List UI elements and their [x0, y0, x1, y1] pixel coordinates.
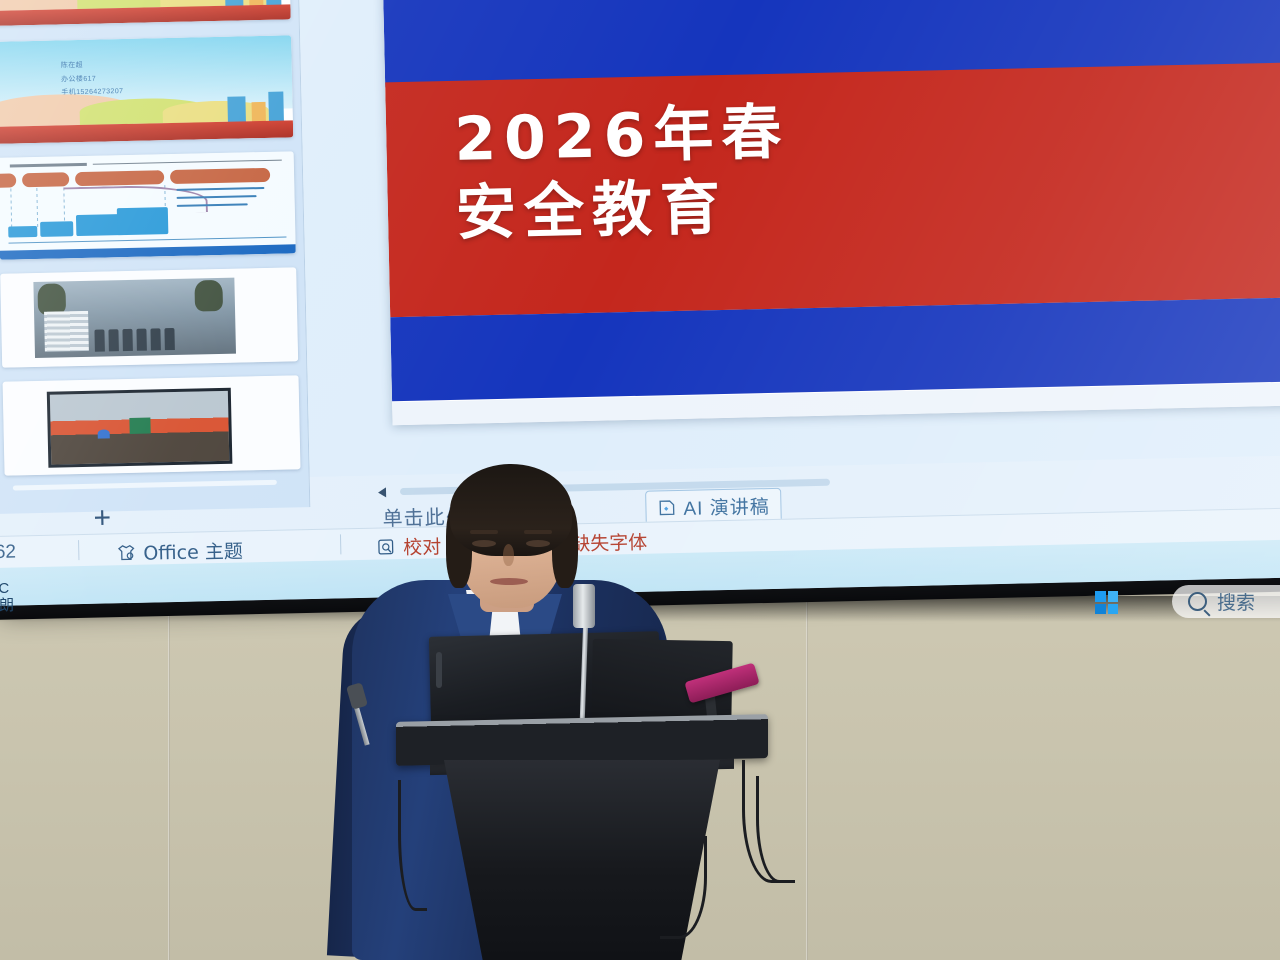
windows-start-icon[interactable] — [1095, 591, 1118, 614]
podium — [396, 718, 768, 960]
add-slide-button[interactable]: + — [93, 503, 111, 533]
microphone-head — [573, 584, 595, 628]
slide-counter[interactable]: / 62 — [0, 541, 16, 564]
podium-top — [396, 714, 768, 766]
weather-temperature: 1°C — [0, 580, 14, 597]
list-item[interactable] — [3, 375, 301, 475]
presenter-eye-left — [472, 540, 496, 547]
laptop-hinge — [436, 652, 442, 688]
search-icon — [1188, 592, 1207, 611]
slide-thumbnail-photo-gate — [0, 267, 298, 367]
presenter-brow-left — [470, 530, 498, 534]
slide-thumbnail-photo-site — [3, 375, 301, 475]
theme-label: Office 主题 — [143, 537, 243, 566]
search-placeholder: 搜索 — [1217, 588, 1255, 615]
thumbnail-pane-scrollbar[interactable] — [13, 480, 277, 491]
slide-thumbnail-pane[interactable]: 陈在超 办公楼617 手机15264273207 谢谢聆听 — [0, 0, 309, 514]
list-item[interactable] — [0, 0, 291, 26]
thumb-contact-line-1: 陈在超 — [61, 60, 83, 70]
slide-thumbnail-contact: 陈在超 办公楼617 手机15264273207 谢谢聆听 — [0, 35, 293, 143]
weather-description: 晴朗 — [0, 597, 14, 614]
theme-indicator[interactable]: Office 主题 — [116, 537, 243, 567]
list-item[interactable] — [0, 151, 296, 259]
search-input[interactable]: 搜索 — [1172, 585, 1280, 618]
taskbar-weather-widget[interactable]: 1°C 晴朗 — [0, 580, 14, 615]
photo-of-presentation-room: 陈在超 办公楼617 手机15264273207 谢谢聆听 — [0, 0, 1280, 960]
current-slide[interactable]: 青 QI 2026年春 安全教育 2026年 — [382, 0, 1280, 425]
slide-thumbnail-illustration — [0, 0, 291, 26]
page-title: 2026年春 安全教育 — [454, 82, 1280, 250]
ai-script-label: AI 演讲稿 — [683, 492, 770, 521]
presenter-mouth — [490, 578, 528, 585]
presenter-nose — [503, 544, 514, 566]
presenter-brow-right — [524, 530, 552, 534]
list-item[interactable]: 陈在超 办公楼617 手机15264273207 谢谢聆听 — [0, 35, 293, 143]
presenter-eye-right — [526, 540, 550, 547]
thumb-contact-line-2: 办公楼617 — [61, 73, 96, 84]
theme-icon — [116, 542, 136, 562]
slide-canvas[interactable]: 青 QI 2026年春 安全教育 2026年 — [299, 0, 1280, 477]
slide-thumbnail-chart — [0, 151, 296, 259]
list-item[interactable] — [0, 267, 298, 367]
presenter-hair — [450, 464, 572, 556]
